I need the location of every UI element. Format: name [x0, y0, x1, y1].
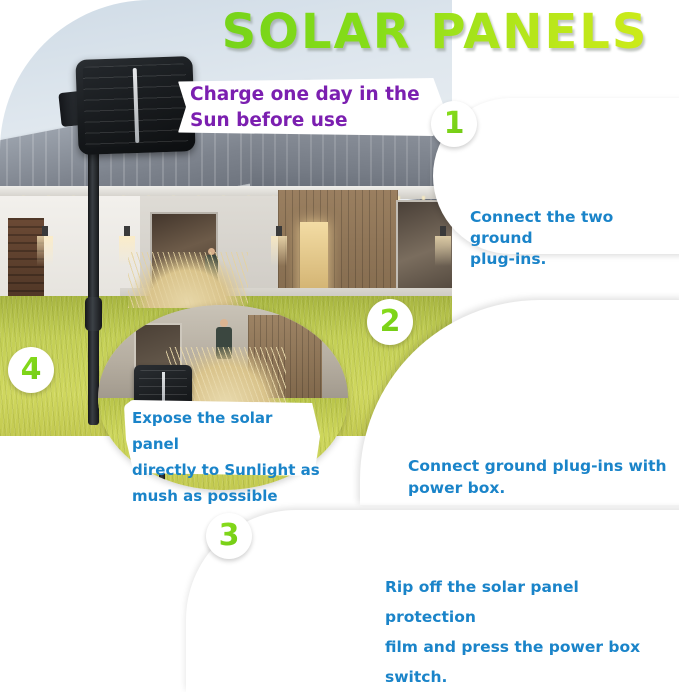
step-badge-4-number: 4 — [21, 355, 42, 385]
page-title: SOLAR PANELS — [196, 4, 674, 60]
step-3-caption: Rip off the solar panel protection film … — [385, 572, 675, 692]
step-2-caption-line1: Connect ground plug-ins with — [408, 455, 673, 477]
step-badge-4: 4 — [8, 347, 54, 393]
infographic-stage: SOLAR PANELS Charge one day in the Sun b… — [0, 0, 679, 689]
step-badge-1-number: 1 — [444, 109, 465, 139]
step-3-caption-line1: Rip off the solar panel protection — [385, 572, 675, 632]
step4-person-head — [220, 319, 228, 327]
step-2-caption-line2: power box. — [408, 477, 673, 499]
solar-panel-foreground — [75, 56, 195, 155]
step-2-caption: Connect ground plug-ins with power box. — [408, 455, 673, 499]
step-3-caption-line3: switch. — [385, 662, 675, 692]
step-badge-2: 2 — [367, 299, 413, 345]
step-1-caption-line1: Connect the two ground — [470, 207, 675, 249]
step-4-caption: Expose the solar panel directly to Sunli… — [132, 405, 322, 509]
charge-banner-text: Charge one day in the Sun before use — [190, 82, 440, 134]
charge-banner-line1: Charge one day in the — [190, 82, 440, 108]
step-3-caption-line2: film and press the power box — [385, 632, 675, 662]
pampas-grass — [128, 252, 248, 308]
step-1-caption: Connect the two ground plug-ins. — [470, 207, 675, 270]
wall-lamp — [42, 226, 48, 236]
step-badge-3: 3 — [206, 513, 252, 559]
wall-lamp — [440, 226, 446, 236]
step-badge-3-number: 3 — [219, 521, 240, 551]
step-1-caption-line2: plug-ins. — [470, 249, 675, 270]
step-badge-1: 1 — [431, 101, 477, 147]
wall-lamp — [124, 226, 130, 236]
step-4-caption-line2: directly to Sunlight as — [132, 457, 322, 483]
charge-banner-line2: Sun before use — [190, 108, 440, 134]
step-badge-2-number: 2 — [380, 307, 401, 337]
step-4-caption-line3: mush as possible — [132, 483, 322, 509]
step-4-caption-line1: Expose the solar panel — [132, 405, 322, 457]
wall-lamp — [276, 226, 282, 236]
